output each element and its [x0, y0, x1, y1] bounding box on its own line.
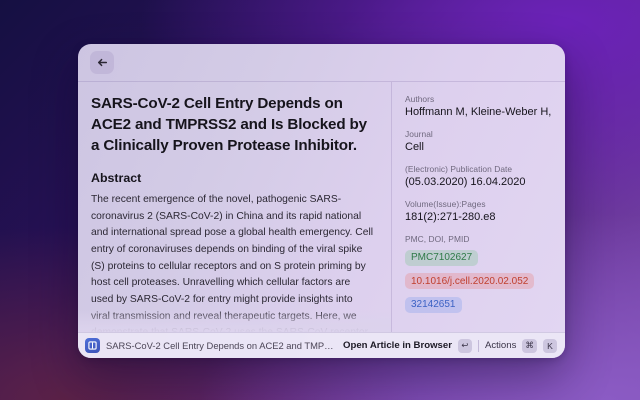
- identifier-badge-list: PMC7102627 10.1016/j.cell.2020.02.052 32…: [405, 247, 553, 318]
- card-footer: SARS-CoV-2 Cell Entry Depends on ACE2 an…: [78, 332, 565, 358]
- arrow-left-icon: [97, 57, 108, 68]
- metadata-sidebar: Authors Hoffmann M, Kleine-Weber H, Schr…: [392, 82, 565, 332]
- actions-button[interactable]: Actions: [485, 340, 516, 351]
- metadata-item-journal: Journal Cell: [405, 129, 553, 153]
- metadata-item-authors: Authors Hoffmann M, Kleine-Weber H, Schr…: [405, 94, 553, 118]
- metadata-item-identifiers: PMC, DOI, PMID PMC7102627 10.1016/j.cell…: [405, 234, 553, 318]
- card-header: [78, 44, 565, 82]
- metadata-item-publication-date: (Electronic) Publication Date (05.03.202…: [405, 164, 553, 188]
- article-title: SARS-CoV-2 Cell Entry Depends on ACE2 an…: [91, 94, 373, 157]
- back-button[interactable]: [90, 51, 114, 74]
- metadata-value: 181(2):271-280.e8: [405, 211, 553, 223]
- footer-document-title: SARS-CoV-2 Cell Entry Depends on ACE2 an…: [106, 340, 337, 351]
- doi-badge[interactable]: 10.1016/j.cell.2020.02.052: [405, 273, 534, 289]
- metadata-label: PMC, DOI, PMID: [405, 234, 553, 244]
- book-app-icon: [85, 338, 100, 353]
- article-main-column: SARS-CoV-2 Cell Entry Depends on ACE2 an…: [78, 82, 391, 332]
- metadata-label: (Electronic) Publication Date: [405, 164, 553, 174]
- article-detail-card: SARS-CoV-2 Cell Entry Depends on ACE2 an…: [78, 44, 565, 358]
- enter-key-badge[interactable]: ↩: [458, 339, 472, 353]
- pmc-badge[interactable]: PMC7102627: [405, 250, 478, 266]
- footer-divider: [478, 340, 479, 352]
- pmid-badge[interactable]: 32142651: [405, 297, 462, 313]
- metadata-label: Authors: [405, 94, 553, 104]
- metadata-value: (05.03.2020) 16.04.2020: [405, 176, 553, 188]
- abstract-text: The recent emergence of the novel, patho…: [91, 192, 373, 332]
- metadata-value: Cell: [405, 141, 553, 153]
- k-key-badge[interactable]: K: [543, 339, 557, 353]
- abstract-heading: Abstract: [91, 171, 373, 185]
- metadata-value: Hoffmann M, Kleine-Weber H, Schr…: [405, 106, 553, 118]
- metadata-label: Journal: [405, 129, 553, 139]
- metadata-label: Volume(Issue):Pages: [405, 199, 553, 209]
- card-body: SARS-CoV-2 Cell Entry Depends on ACE2 an…: [78, 82, 565, 332]
- command-key-badge[interactable]: ⌘: [522, 339, 537, 353]
- open-article-in-browser-button[interactable]: Open Article in Browser: [343, 340, 452, 351]
- metadata-item-volume-issue-pages: Volume(Issue):Pages 181(2):271-280.e8: [405, 199, 553, 223]
